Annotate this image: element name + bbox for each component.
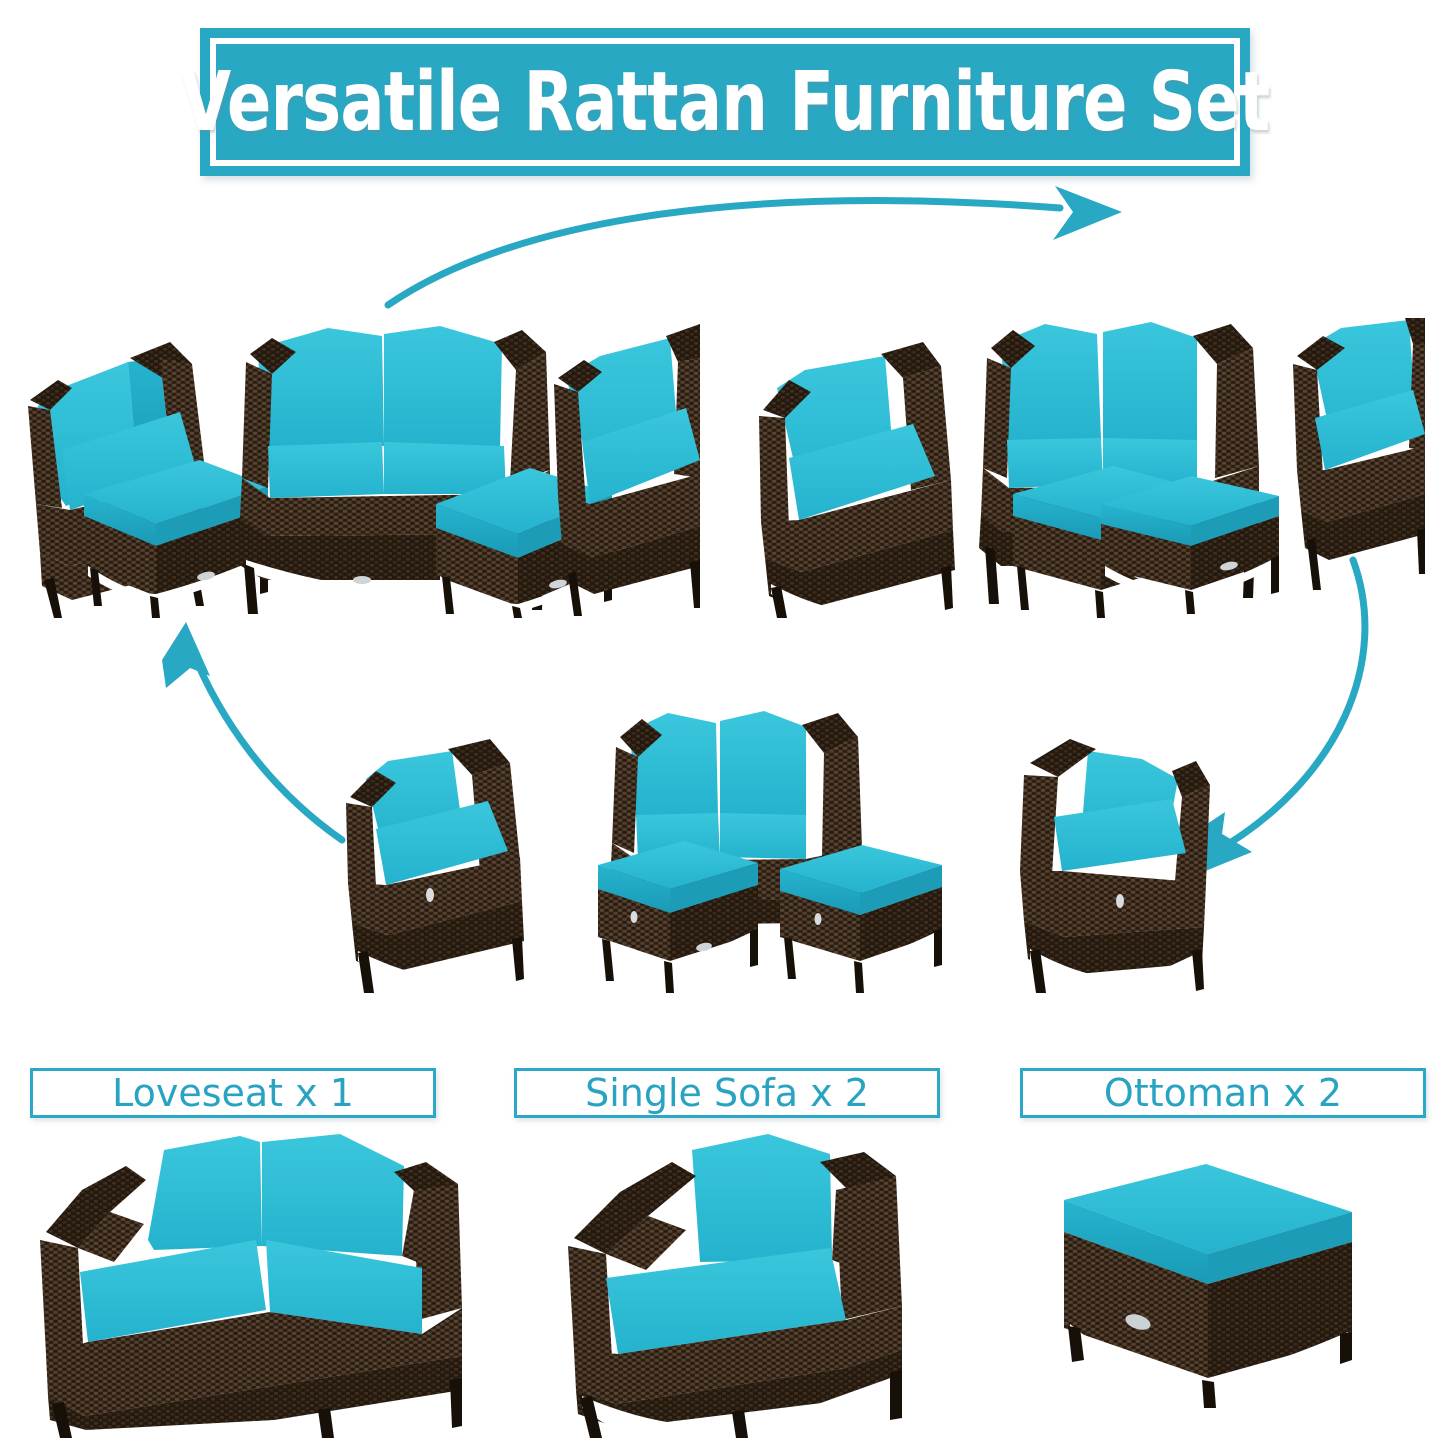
- legend-label: Ottoman x 2: [1104, 1071, 1342, 1115]
- legend-label: Loveseat x 1: [112, 1071, 354, 1115]
- legend-box-loveseat: Loveseat x 1: [30, 1068, 436, 1118]
- single-sofa-figure: [1293, 318, 1425, 590]
- legend-label: Single Sofa x 2: [585, 1071, 869, 1115]
- legend-figure-single-sofa: [524, 1128, 934, 1438]
- ottoman-figure: [780, 845, 942, 993]
- legend-figure-loveseat: [22, 1128, 472, 1438]
- infographic-canvas: Versatile Rattan Furniture Set: [0, 0, 1445, 1445]
- legend-box-single-sofa: Single Sofa x 2: [514, 1068, 940, 1118]
- single-sofa-figure: [759, 342, 955, 624]
- arrow-left-icon: [162, 622, 342, 840]
- ottoman-figure: [598, 841, 758, 993]
- scene-arrangement-chairs-with-ottomans: [10, 318, 700, 618]
- scene-arrangement-loveseat-daybed: [745, 318, 1425, 618]
- single-sofa-figure: [346, 739, 524, 993]
- single-sofa-figure: [554, 324, 700, 616]
- legend-figure-ottoman: [992, 1142, 1422, 1438]
- legend-box-ottoman: Ottoman x 2: [1020, 1068, 1426, 1118]
- arrow-top-icon: [388, 186, 1122, 305]
- single-sofa-figure: [1020, 739, 1210, 993]
- scene-arrangement-conversation-set: [330, 705, 1215, 995]
